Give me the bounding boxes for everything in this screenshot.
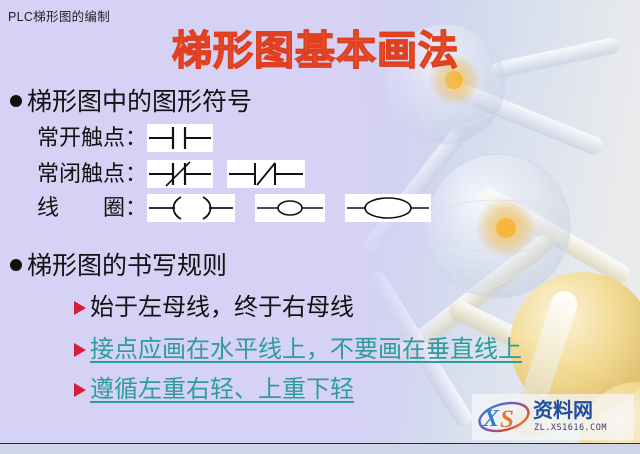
slide-header: PLC梯形图的编制 (8, 6, 110, 25)
section-heading-symbols: 梯形图中的图形符号 (10, 88, 252, 118)
normally-open-contact-symbol (147, 124, 213, 152)
symbol-row-normally-closed: 常闭触点： (37, 160, 305, 188)
coil-parenthesis-symbol (147, 194, 235, 222)
bullet-dot-icon (10, 95, 22, 107)
watermark-domain: ZL.XS1616.COM (534, 423, 607, 433)
rule-item-3: 遵循左重右轻、上重下轻 (74, 376, 354, 404)
symbol-row-normally-open: 常开触点： (37, 124, 213, 152)
symbol-row-label: 线 圈： (37, 195, 147, 221)
normally-closed-contact-symbol-a (147, 160, 213, 188)
watermark-text-group: 资料网 ZL.XS1616.COM (532, 401, 607, 433)
normally-closed-contact-symbol-b (227, 160, 305, 188)
symbol-row-coils: 线 圈： (37, 194, 431, 222)
rule-item-1: 始于左母线，终于右母线 (74, 294, 354, 322)
arrow-bullet-icon (74, 343, 86, 357)
bottom-band (0, 444, 640, 454)
rule-item-1-text: 始于左母线，终于右母线 (90, 294, 354, 322)
bullet-dot-icon (10, 259, 22, 271)
rule-item-2-text: 接点应画在水平线上，不要画在垂直线上 (90, 336, 522, 364)
symbol-row-label: 常闭触点： (37, 161, 147, 187)
svg-text:X: X (482, 406, 500, 432)
svg-text:S: S (500, 406, 514, 433)
watermark-brand: 资料网 (533, 401, 607, 421)
watermark: X S 资料网 ZL.XS1616.COM (472, 394, 634, 440)
arrow-bullet-icon (74, 301, 86, 315)
section-heading-rules: 梯形图的书写规则 (10, 252, 227, 282)
symbol-row-label: 常开触点： (37, 125, 147, 151)
arrow-bullet-icon (74, 383, 86, 397)
section-heading-symbols-label: 梯形图中的图形符号 (27, 89, 252, 116)
coil-large-ellipse-symbol (345, 194, 431, 222)
section-heading-rules-label: 梯形图的书写规则 (27, 253, 227, 280)
rule-item-3-text: 遵循左重右轻、上重下轻 (90, 376, 354, 404)
coil-small-ellipse-symbol (255, 194, 325, 222)
page-title: 梯形图基本画法 (172, 28, 459, 74)
rule-item-2: 接点应画在水平线上，不要画在垂直线上 (74, 336, 522, 364)
slide-canvas: PLC梯形图的编制 梯形图基本画法 梯形图中的图形符号 常开触点： 常闭触点： (0, 0, 640, 454)
xs-logo-icon: X S (476, 397, 532, 437)
